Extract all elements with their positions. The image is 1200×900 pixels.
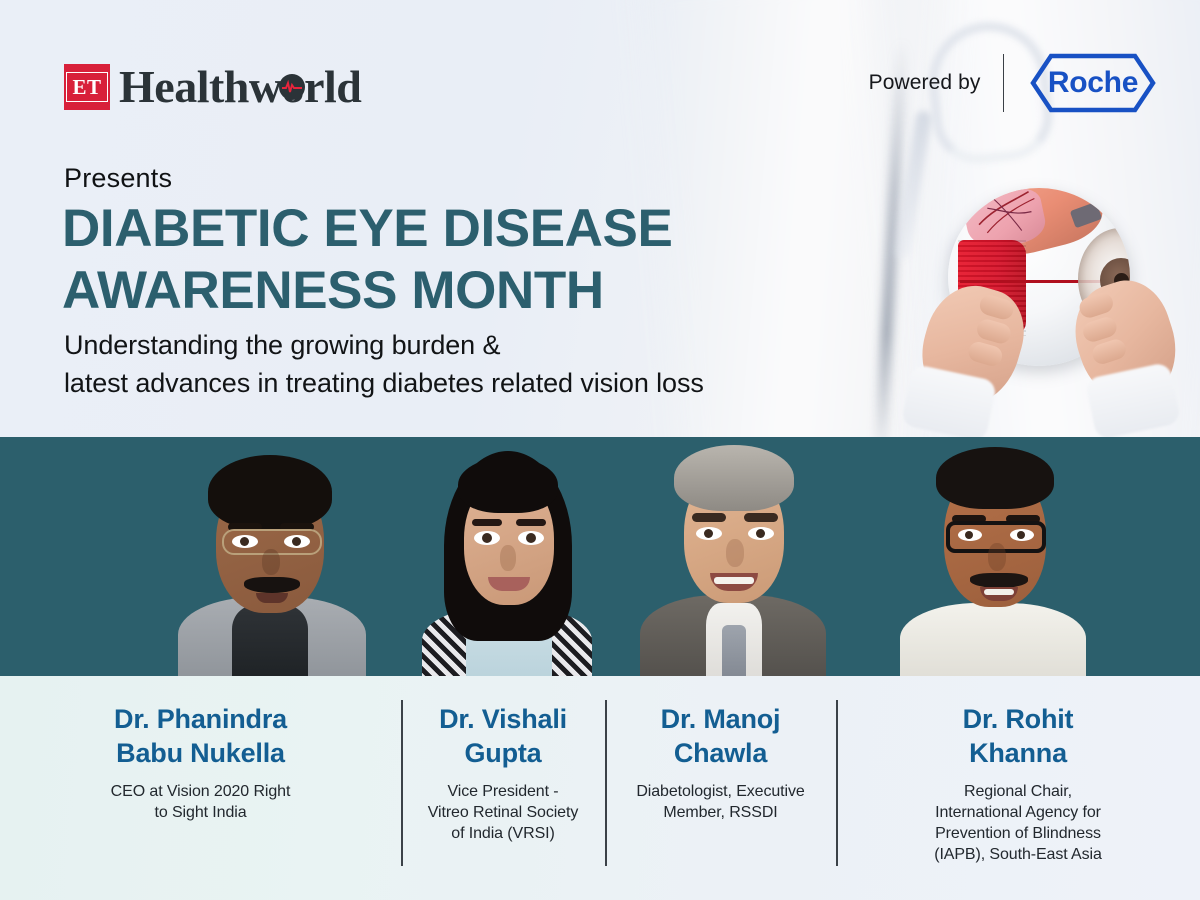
- powered-by-block: Powered by Roche: [869, 52, 1156, 114]
- eye-model-image: [900, 160, 1190, 437]
- speaker-title: CEO at Vision 2020 Right to Sight India: [12, 781, 389, 823]
- healthworld-wordmark: Healthworld: [119, 64, 361, 110]
- speaker-name: Dr. Vishali Gupta: [413, 702, 593, 770]
- page-subtitle: Understanding the growing burden & lates…: [64, 326, 704, 402]
- roche-logo[interactable]: Roche: [1030, 53, 1156, 113]
- speaker-photo-phanindra: [170, 437, 370, 676]
- speaker-card-4: Dr. Rohit Khanna Regional Chair, Interna…: [836, 676, 1200, 900]
- speaker-title: Vice President - Vitreo Retinal Society …: [413, 781, 593, 844]
- speaker-name: Dr. Phanindra Babu Nukella: [12, 702, 389, 770]
- powered-by-label: Powered by: [869, 71, 981, 95]
- heart-pulse-icon: [279, 74, 305, 100]
- speaker-details-bar: Dr. Phanindra Babu Nukella CEO at Vision…: [0, 676, 1200, 900]
- speaker-card-2: Dr. Vishali Gupta Vice President - Vitre…: [401, 676, 605, 900]
- et-badge: ET: [64, 64, 110, 110]
- speaker-photo-rohit: [900, 437, 1086, 676]
- speaker-name: Dr. Rohit Khanna: [848, 702, 1188, 770]
- speaker-photo-vishali: [418, 437, 596, 676]
- speaker-card-3: Dr. Manoj Chawla Diabetologist, Executiv…: [605, 676, 836, 900]
- et-badge-label: ET: [66, 72, 107, 102]
- speaker-photo-band: [0, 437, 1200, 676]
- et-healthworld-logo[interactable]: ET Healthworld: [64, 58, 361, 116]
- speaker-name: Dr. Manoj Chawla: [617, 702, 824, 770]
- hero-section: ET Healthworld Powered by Roche Presents…: [0, 0, 1200, 437]
- page-title: DIABETIC EYE DISEASE AWARENESS MONTH: [62, 198, 672, 322]
- speaker-title: Regional Chair, International Agency for…: [848, 781, 1188, 865]
- promo-poster: ET Healthworld Powered by Roche Presents…: [0, 0, 1200, 900]
- roche-wordmark: Roche: [1030, 53, 1156, 113]
- speaker-photo-manoj: [640, 437, 826, 676]
- speaker-card-1: Dr. Phanindra Babu Nukella CEO at Vision…: [0, 676, 401, 900]
- presents-label: Presents: [64, 163, 172, 194]
- speaker-title: Diabetologist, Executive Member, RSSDI: [617, 781, 824, 823]
- vertical-divider: [1003, 54, 1005, 112]
